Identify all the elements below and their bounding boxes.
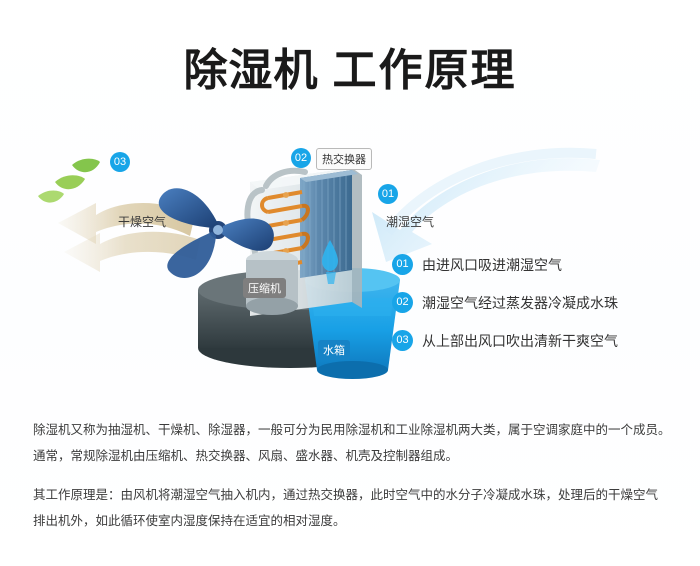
leaf-icon: [38, 159, 100, 203]
label-compressor: 压缩机: [243, 278, 286, 298]
paragraph-2-line-1: 其工作原理是：由风机将潮湿空气抽入机内，通过热交换器，此时空气中的水分子冷凝成水…: [33, 483, 673, 509]
legend-text: 由进风口吸进潮湿空气: [422, 255, 562, 275]
legend-item: 03 从上部出风口吹出清新干爽空气: [392, 330, 692, 351]
body-copy: 除湿机又称为抽湿机、干燥机、除湿器，一般可分为民用除湿机和工业除湿机两大类，属于…: [33, 418, 673, 535]
label-humid-air: 潮湿空气: [386, 213, 434, 230]
badge-02-diagram: 02: [291, 148, 311, 168]
title-sub: 工作原理: [333, 34, 517, 98]
legend-text: 从上部出风口吹出清新干爽空气: [422, 331, 618, 351]
paragraph-2-line-2: 排出机外，如此循环使室内湿度保持在适宜的相对湿度。: [33, 509, 673, 535]
label-heat-exchanger: 热交换器: [316, 148, 372, 170]
paragraph-1-line-1: 除湿机又称为抽湿机、干燥机、除湿器，一般可分为民用除湿机和工业除湿机两大类，属于…: [33, 418, 673, 444]
legend-text: 潮湿空气经过蒸发器冷凝成水珠: [422, 293, 618, 313]
humid-air-arrow: [372, 153, 600, 262]
legend-badge: 03: [392, 330, 413, 351]
legend-badge: 02: [392, 292, 413, 313]
badge-01-diagram: 01: [378, 184, 398, 204]
page-root: 除湿机工作原理: [0, 0, 700, 566]
page-title: 除湿机工作原理: [0, 34, 700, 98]
paragraph-1-line-2: 通常，常规除湿机由压缩机、热交换器、风扇、盛水器、机壳及控制器组成。: [33, 444, 673, 470]
legend-badge: 01: [392, 254, 413, 275]
legend-item: 01 由进风口吸进潮湿空气: [392, 254, 692, 275]
label-water-tank: 水箱: [318, 340, 350, 360]
label-dry-air: 干燥空气: [118, 213, 166, 230]
legend-list: 01 由进风口吸进潮湿空气 02 潮湿空气经过蒸发器冷凝成水珠 03 从上部出风…: [392, 254, 692, 368]
legend-item: 02 潮湿空气经过蒸发器冷凝成水珠: [392, 292, 692, 313]
badge-03-diagram: 03: [110, 152, 130, 172]
title-main: 除湿机: [184, 34, 319, 98]
